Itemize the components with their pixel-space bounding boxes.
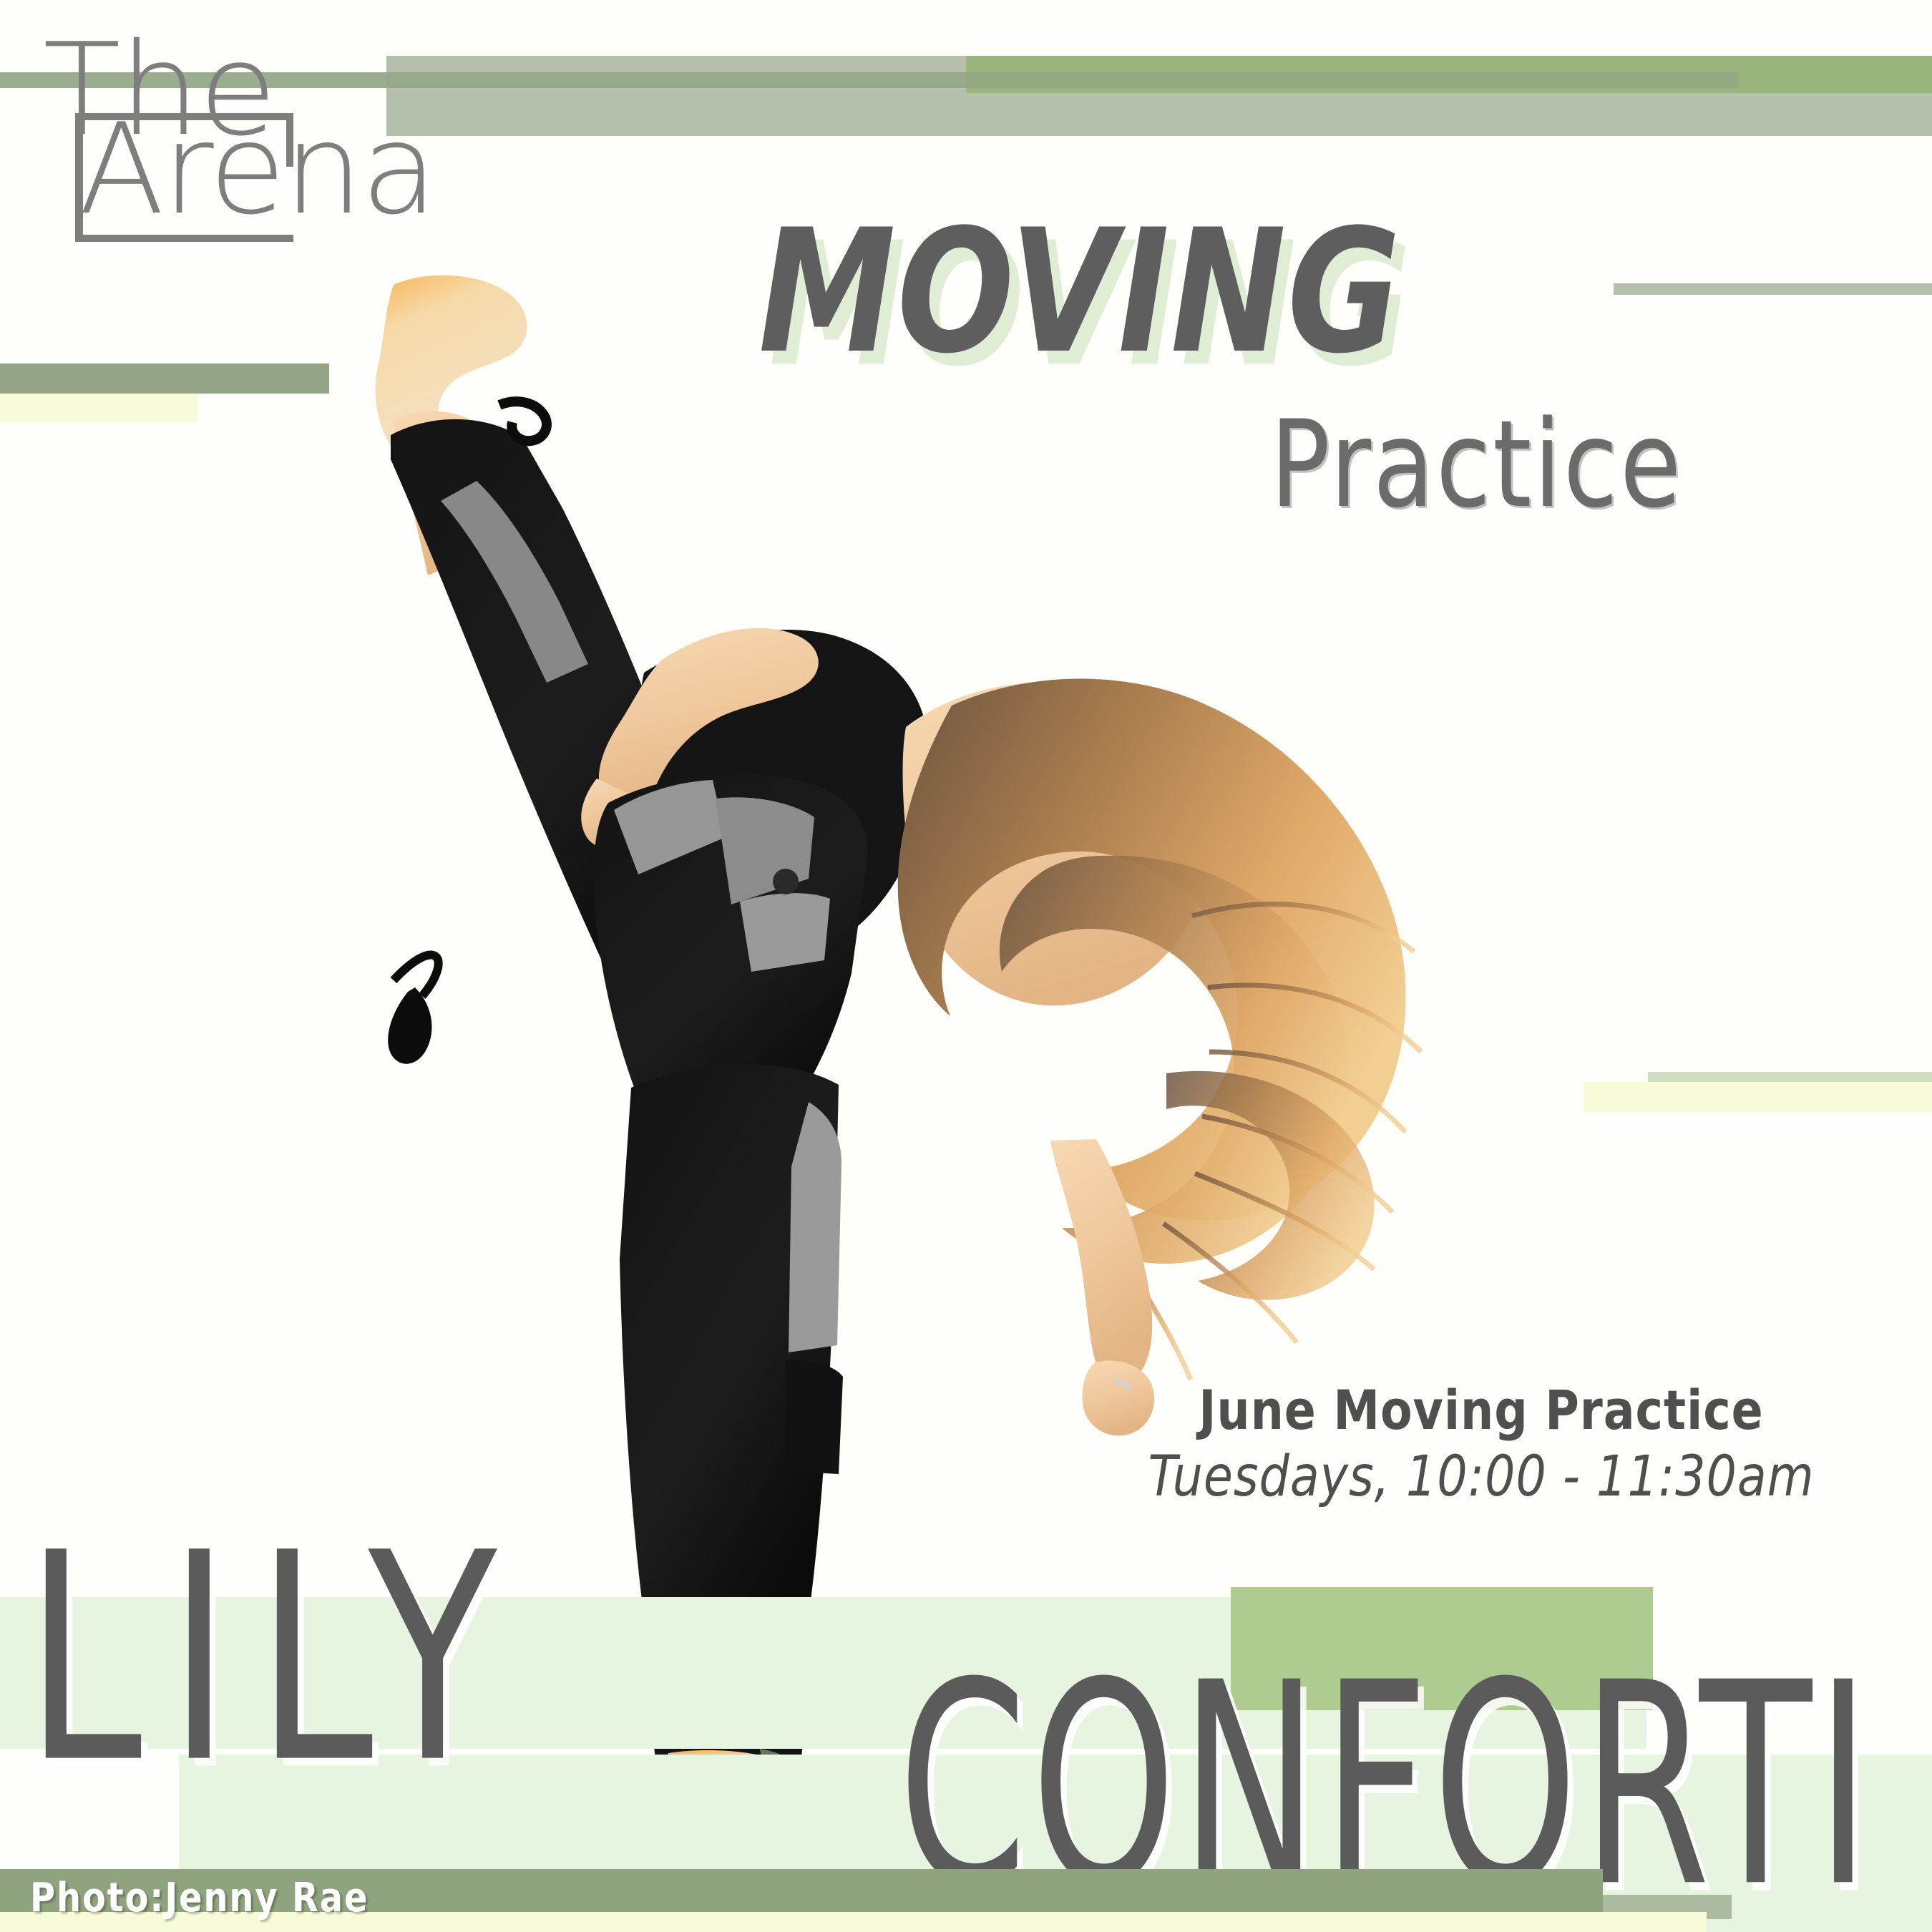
page-subtitle: Practice bbox=[1270, 404, 1683, 525]
decor-line-beside-title bbox=[1614, 283, 1932, 295]
cargo-panel-c bbox=[740, 893, 830, 972]
photo-credit: Photo:Jenny Rae bbox=[30, 1875, 369, 1921]
cargo-button bbox=[773, 869, 799, 894]
decor-bar-left-sage bbox=[0, 364, 329, 394]
logo-text-arena: Arena bbox=[79, 107, 436, 233]
event-name: June Moving Practice bbox=[1080, 1377, 1883, 1443]
page-title: MOVING bbox=[758, 208, 1402, 378]
event-details: June Moving Practice Tuesdays, 10:00 - 1… bbox=[1059, 1377, 1903, 1513]
brand-logo[interactable]: The Arena bbox=[36, 32, 379, 211]
performer-first-name: LILY bbox=[25, 1516, 522, 1802]
event-schedule: Tuesdays, 10:00 - 11:30am bbox=[1080, 1443, 1883, 1513]
decor-bar-right-yellow bbox=[1584, 1082, 1932, 1112]
decor-bar-right-green bbox=[1648, 1072, 1932, 1082]
decor-bar-left-yellow bbox=[0, 394, 197, 422]
poster-canvas: The Arena bbox=[0, 0, 1932, 1932]
cargo-pocket-lower bbox=[786, 1360, 843, 1474]
pant-drawstring-bottom bbox=[388, 987, 431, 1064]
